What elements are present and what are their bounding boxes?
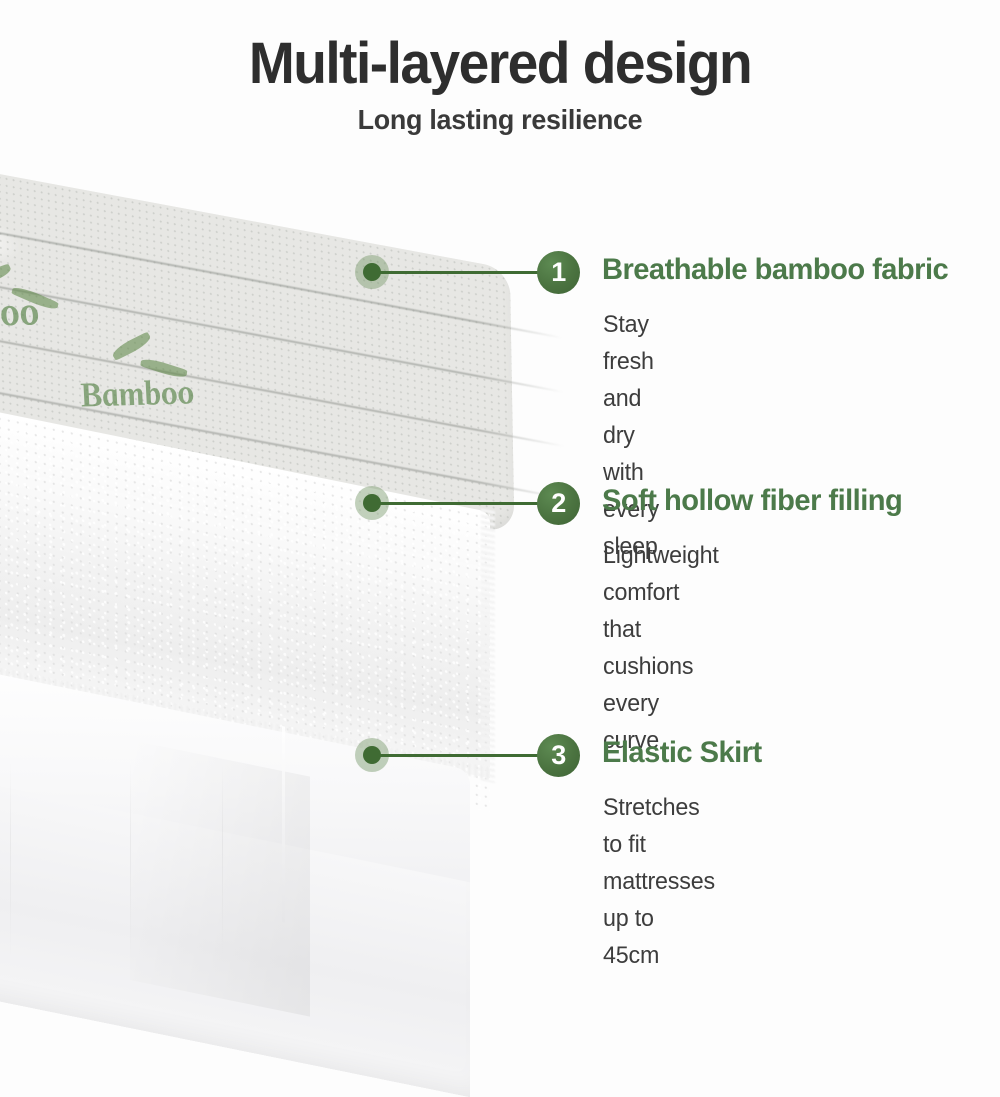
- callout-headline-3: Elastic Skirt: [602, 736, 762, 770]
- elastic-skirt-base-layer: [0, 640, 470, 970]
- leader-line-1: [372, 271, 540, 274]
- callout-body-2: Lightweight comfort that cushions every …: [603, 537, 719, 759]
- skirt-corner-edge: [282, 726, 285, 923]
- skirt-fabric-crease: [222, 760, 223, 960]
- leader-line-3: [372, 754, 540, 757]
- callout-body-line: Stretches to fit mattresses: [603, 789, 715, 900]
- bamboo-print-text: Bamboo: [76, 374, 199, 416]
- product-image: Bamboo Bamboo: [0, 0, 520, 1000]
- callout-body-3: Stretches to fit mattresses up to 45cm: [603, 789, 715, 974]
- callout-headline-2: Soft hollow fiber filling: [602, 484, 902, 518]
- skirt-fabric-crease: [130, 760, 131, 960]
- skirt-fabric-crease: [10, 760, 11, 960]
- callout-number-badge-3: 3: [537, 734, 580, 777]
- leader-line-2: [372, 502, 540, 505]
- callout-body-1: Stay fresh and dry with every sleep: [603, 306, 659, 565]
- fibre-ragged-edge: [481, 508, 495, 783]
- callout-headline-1: Breathable bamboo fabric: [602, 253, 948, 287]
- callout-body-line: Lightweight comfort that: [603, 537, 719, 648]
- callout-body-line: up to 45cm: [603, 900, 715, 974]
- callout-number-badge-1: 1: [537, 251, 580, 294]
- callout-number-badge-2: 2: [537, 482, 580, 525]
- callout-body-line: Stay fresh and dry with: [603, 306, 659, 491]
